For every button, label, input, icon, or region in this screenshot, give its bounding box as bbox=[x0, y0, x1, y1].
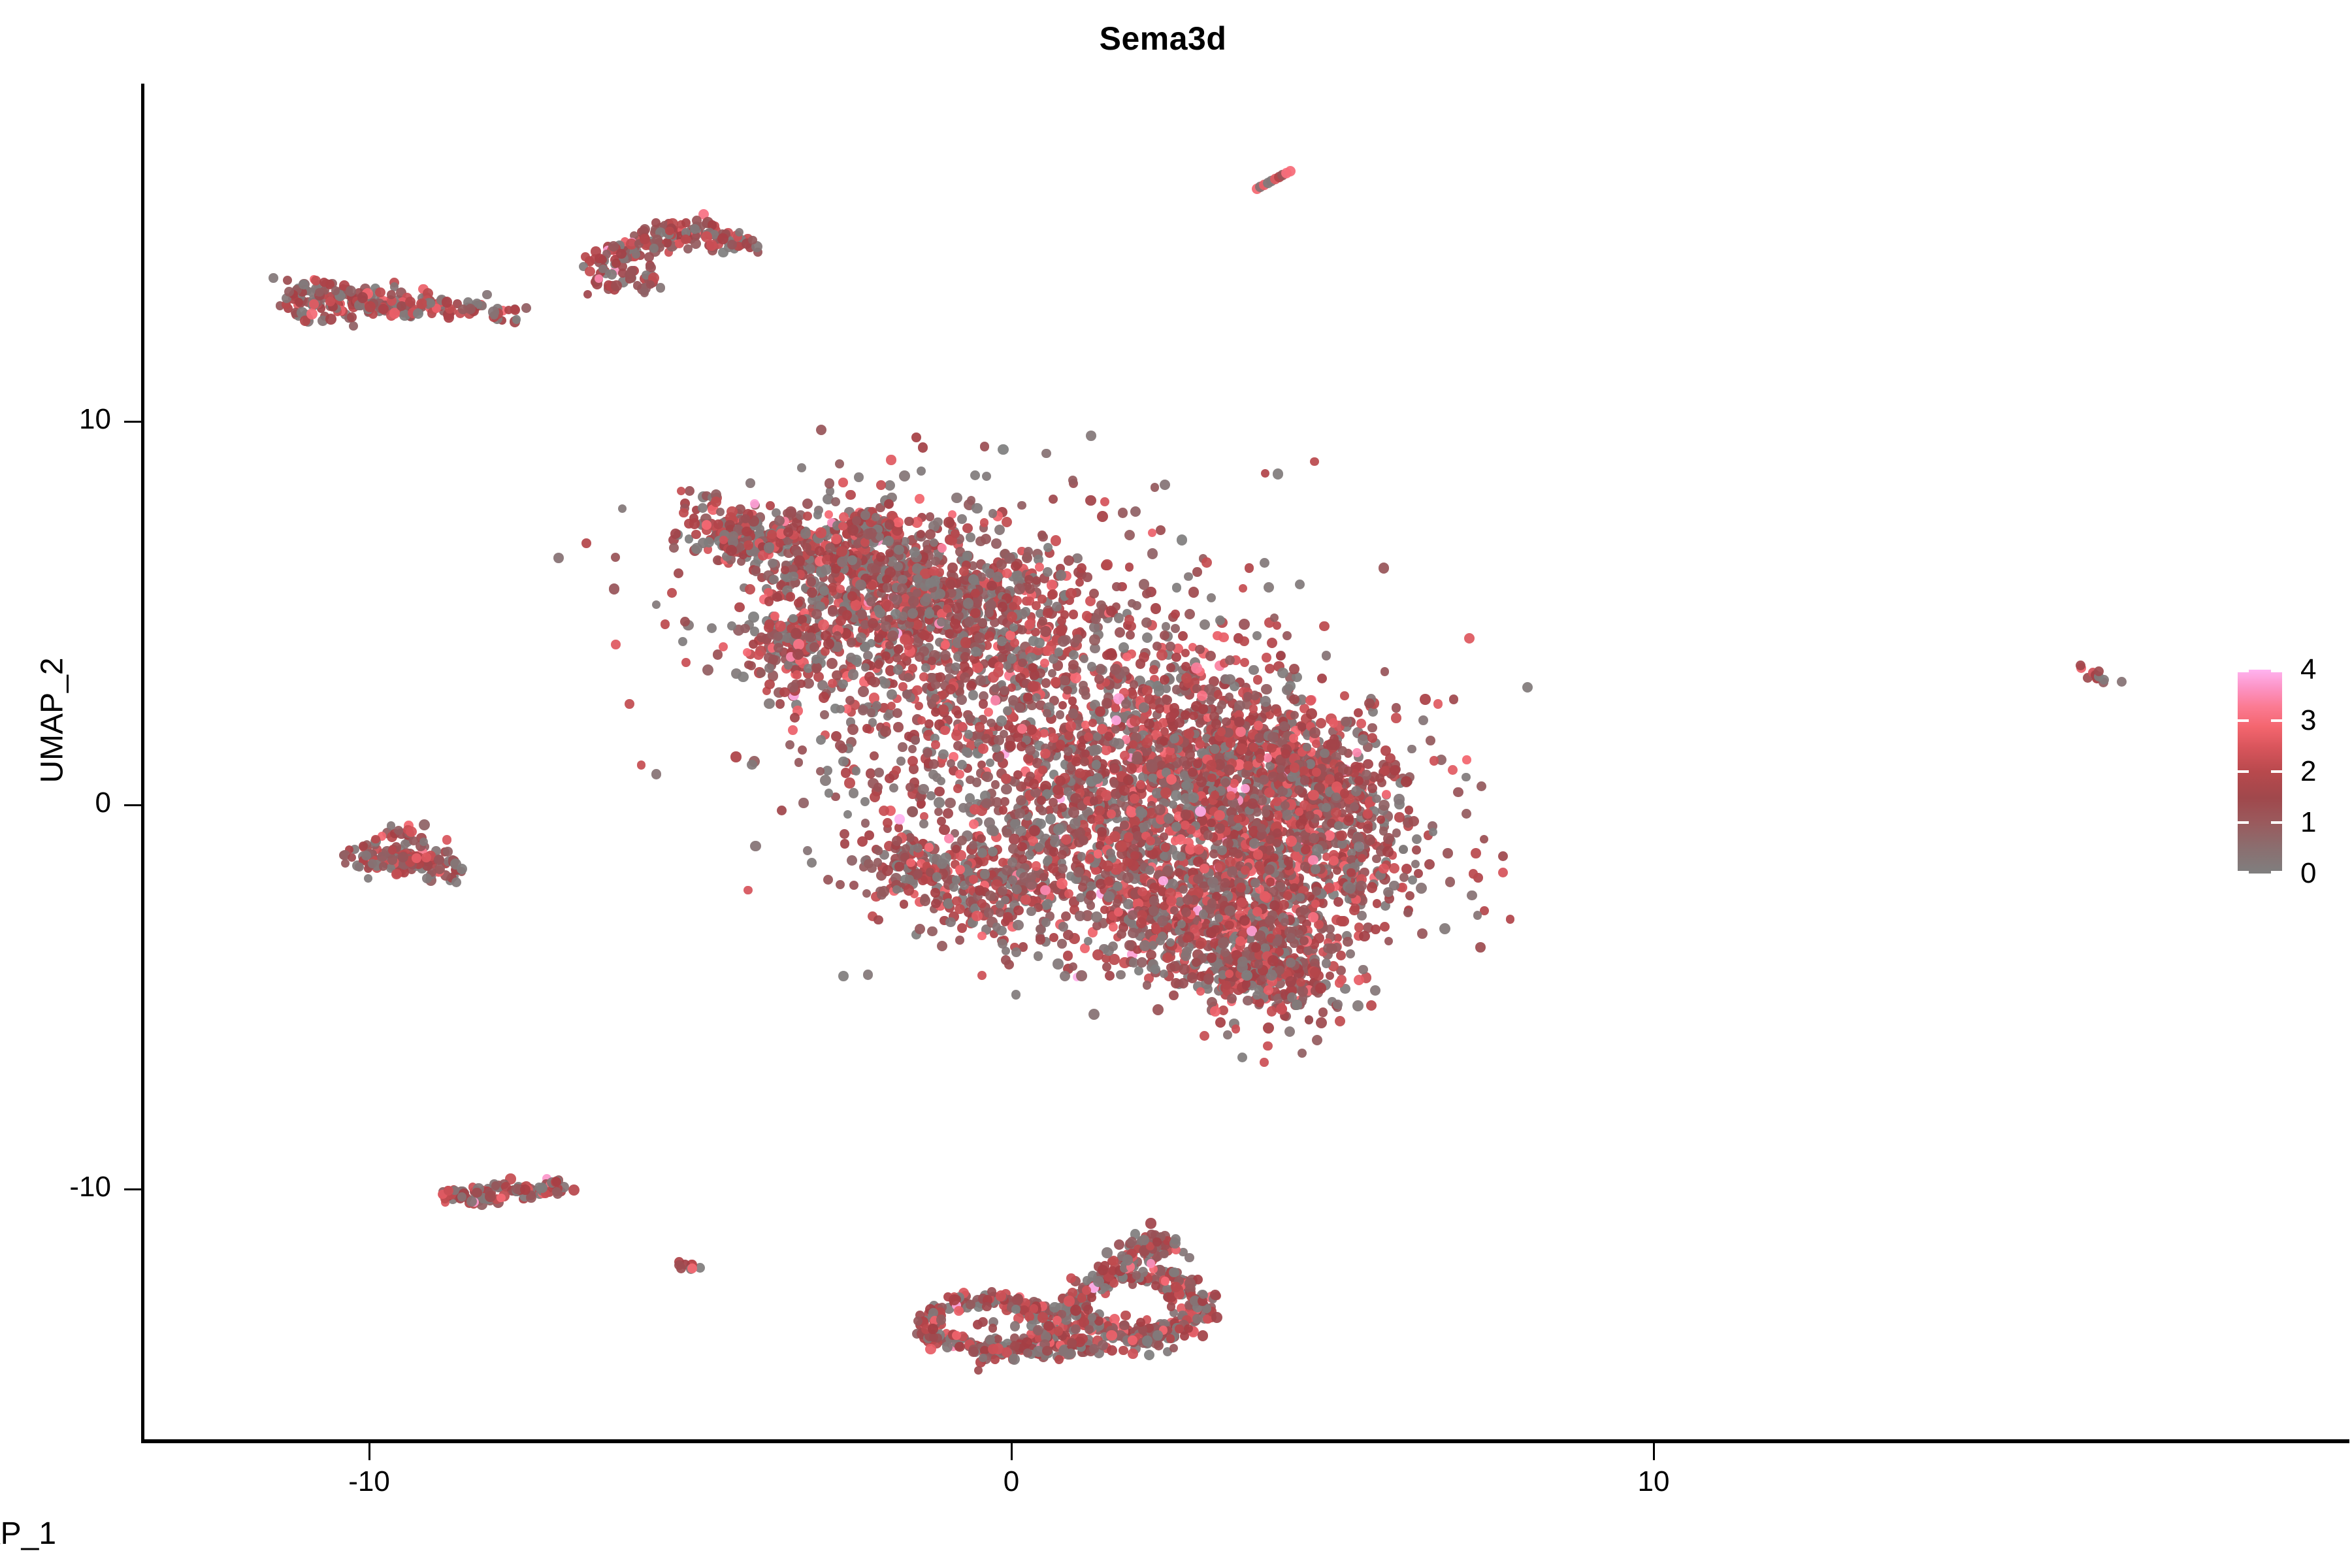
scatter-point bbox=[1266, 877, 1275, 887]
scatter-point bbox=[325, 297, 335, 306]
scatter-point bbox=[1230, 830, 1239, 838]
scatter-point bbox=[1259, 775, 1268, 784]
scatter-point bbox=[994, 662, 1004, 671]
scatter-point bbox=[857, 610, 867, 619]
scatter-point bbox=[1049, 733, 1058, 743]
scatter-point bbox=[1171, 653, 1181, 662]
scatter-point bbox=[1184, 728, 1194, 739]
scatter-point bbox=[1102, 962, 1111, 972]
scatter-point bbox=[1281, 801, 1289, 809]
scatter-point bbox=[1403, 908, 1413, 917]
scatter-point bbox=[1412, 834, 1422, 844]
scatter-point bbox=[1107, 650, 1117, 661]
scatter-point bbox=[1343, 937, 1353, 947]
scatter-point bbox=[823, 875, 833, 885]
scatter-point bbox=[1377, 815, 1385, 824]
scatter-point bbox=[894, 823, 904, 832]
scatter-point bbox=[1267, 638, 1277, 648]
scatter-point bbox=[998, 444, 1008, 455]
scatter-point bbox=[982, 472, 991, 481]
scatter-point bbox=[1351, 786, 1362, 796]
scatter-point bbox=[1162, 866, 1173, 876]
scatter-point bbox=[1385, 753, 1396, 764]
scatter-point bbox=[1462, 755, 1471, 764]
scatter-point bbox=[1382, 790, 1391, 799]
scatter-point bbox=[1100, 497, 1109, 506]
scatter-point bbox=[1126, 630, 1135, 640]
scatter-point bbox=[1420, 694, 1431, 705]
scatter-point bbox=[1171, 822, 1181, 832]
scatter-point bbox=[1298, 723, 1306, 731]
scatter-point bbox=[1379, 864, 1388, 874]
scatter-point bbox=[1075, 578, 1085, 587]
scatter-point bbox=[1363, 824, 1373, 834]
scatter-point bbox=[745, 478, 755, 488]
scatter-point bbox=[1142, 685, 1152, 696]
scatter-point bbox=[1445, 877, 1456, 887]
scatter-point bbox=[1148, 529, 1157, 538]
scatter-point bbox=[1270, 613, 1279, 622]
scatter-point bbox=[1172, 583, 1182, 593]
scatter-point bbox=[945, 798, 956, 809]
scatter-point bbox=[1194, 844, 1204, 855]
scatter-point bbox=[651, 769, 662, 779]
scatter-point bbox=[1239, 636, 1249, 646]
scatter-point bbox=[745, 584, 755, 595]
scatter-point bbox=[1066, 588, 1076, 598]
scatter-point bbox=[970, 470, 980, 480]
scatter-point bbox=[427, 299, 435, 307]
scatter-point bbox=[968, 574, 979, 585]
scatter-point bbox=[911, 736, 920, 745]
scatter-point bbox=[1139, 579, 1149, 589]
scatter-point bbox=[1101, 745, 1111, 755]
scatter-point bbox=[863, 970, 874, 980]
scatter-point bbox=[1256, 754, 1264, 762]
scatter-point bbox=[727, 240, 737, 250]
scatter-point bbox=[1249, 704, 1258, 713]
scatter-point bbox=[1005, 630, 1015, 640]
scatter-point bbox=[1283, 891, 1292, 900]
scatter-point bbox=[1240, 658, 1249, 667]
scatter-point bbox=[870, 677, 880, 687]
scatter-point bbox=[990, 695, 1001, 706]
scatter-point bbox=[889, 783, 898, 792]
scatter-point bbox=[908, 596, 919, 607]
scatter-point bbox=[825, 510, 833, 519]
scatter-point bbox=[985, 608, 994, 617]
scatter-point bbox=[1424, 859, 1435, 870]
scatter-point bbox=[947, 759, 955, 768]
scatter-point bbox=[854, 472, 863, 482]
scatter-point bbox=[953, 784, 962, 793]
scatter-point bbox=[738, 672, 749, 683]
scatter-point bbox=[365, 301, 376, 312]
scatter-point bbox=[893, 722, 903, 732]
scatter-point bbox=[1040, 626, 1051, 637]
scatter-point bbox=[1405, 891, 1414, 900]
scatter-point bbox=[1038, 807, 1047, 815]
scatter-point bbox=[1418, 715, 1428, 725]
scatter-point bbox=[1300, 776, 1310, 785]
scatter-point bbox=[1051, 677, 1060, 687]
scatter-point bbox=[980, 518, 988, 527]
scatter-point bbox=[951, 730, 962, 741]
scatter-point bbox=[734, 602, 744, 612]
scatter-point bbox=[633, 281, 642, 290]
scatter-point bbox=[1115, 627, 1125, 638]
scatter-point bbox=[1477, 781, 1486, 791]
scatter-point bbox=[904, 673, 913, 682]
scatter-point bbox=[803, 512, 812, 521]
scatter-point bbox=[798, 745, 807, 755]
scatter-point bbox=[994, 753, 1004, 762]
scatter-point bbox=[1289, 694, 1299, 704]
scatter-point bbox=[583, 290, 592, 299]
scatter-point bbox=[1254, 861, 1264, 870]
scatter-point bbox=[669, 543, 679, 553]
scatter-point bbox=[994, 525, 1005, 535]
scatter-point bbox=[1265, 664, 1275, 674]
scatter-point bbox=[346, 286, 356, 296]
scatter-point bbox=[845, 696, 855, 705]
scatter-point bbox=[785, 506, 796, 517]
scatter-point bbox=[1392, 703, 1401, 713]
scatter-point bbox=[870, 792, 881, 803]
umap-feature-plot: Sema3d -10010 -10010 UMAP_1 UMAP_2 43210 bbox=[0, 0, 2352, 1568]
scatter-point bbox=[1449, 694, 1458, 704]
scatter-point bbox=[789, 572, 798, 581]
scatter-point bbox=[838, 971, 849, 981]
scatter-point bbox=[607, 269, 617, 279]
scatter-point bbox=[1058, 850, 1067, 859]
scatter-point bbox=[1498, 868, 1508, 877]
scatter-point bbox=[977, 971, 987, 980]
scatter-point bbox=[1336, 951, 1346, 960]
scatter-point bbox=[1058, 636, 1068, 646]
scatter-point bbox=[1475, 942, 1486, 953]
scatter-point bbox=[1305, 695, 1316, 706]
scatter-point bbox=[898, 742, 907, 752]
scatter-point bbox=[1068, 476, 1077, 485]
scatter-point bbox=[1311, 900, 1320, 908]
scatter-point bbox=[836, 880, 845, 889]
scatter-point bbox=[1200, 619, 1210, 630]
scatter-point bbox=[1407, 745, 1416, 753]
scatter-point bbox=[1038, 617, 1047, 626]
scatter-point bbox=[674, 568, 683, 578]
scatter-point bbox=[845, 490, 856, 500]
scatter-point bbox=[585, 267, 595, 276]
scatter-point bbox=[1352, 1000, 1364, 1011]
scatter-point bbox=[1152, 642, 1162, 651]
scatter-point bbox=[1301, 845, 1310, 855]
scatter-point bbox=[934, 787, 945, 797]
scatter-point bbox=[1306, 708, 1317, 719]
scatter-point bbox=[1352, 748, 1362, 757]
scatter-point bbox=[952, 602, 962, 613]
scatter-point bbox=[874, 634, 883, 643]
scatter-point bbox=[1473, 911, 1482, 920]
scatter-point bbox=[1166, 642, 1175, 651]
scatter-point bbox=[1282, 631, 1292, 641]
scatter-point bbox=[1354, 708, 1363, 717]
scatter-point bbox=[909, 547, 920, 557]
scatter-point bbox=[908, 664, 917, 673]
scatter-point bbox=[1279, 721, 1289, 731]
scatter-point bbox=[750, 841, 760, 851]
scatter-point bbox=[1429, 756, 1439, 765]
scatter-point bbox=[825, 543, 835, 553]
scatter-point bbox=[1134, 966, 1143, 975]
scatter-point bbox=[1184, 609, 1195, 619]
scatter-point bbox=[881, 621, 891, 632]
scatter-point bbox=[972, 503, 982, 514]
scatter-point bbox=[794, 555, 805, 566]
scatter-point bbox=[1274, 811, 1283, 820]
scatter-point bbox=[860, 797, 870, 806]
scatter-point bbox=[1282, 685, 1292, 695]
scatter-point bbox=[1119, 785, 1130, 796]
scatter-point bbox=[1056, 710, 1065, 719]
scatter-point bbox=[929, 759, 939, 769]
scatter-point bbox=[1084, 937, 1092, 945]
scatter-point bbox=[1048, 669, 1056, 678]
scatter-point bbox=[1191, 662, 1201, 673]
scatter-point bbox=[331, 286, 340, 295]
scatter-point bbox=[1043, 567, 1053, 577]
scatter-point bbox=[1239, 584, 1247, 593]
scatter-point bbox=[1188, 792, 1198, 802]
scatter-point bbox=[283, 276, 292, 285]
scatter-point bbox=[1401, 776, 1412, 787]
scatter-point bbox=[1264, 582, 1274, 593]
scatter-point bbox=[444, 312, 454, 323]
scatter-point bbox=[1279, 900, 1289, 910]
scatter-point bbox=[1295, 580, 1305, 589]
scatter-point bbox=[1178, 631, 1188, 641]
scatter-point bbox=[937, 777, 945, 785]
scatter-point bbox=[1341, 717, 1350, 727]
scatter-point bbox=[1226, 738, 1236, 748]
scatter-point bbox=[1049, 495, 1058, 504]
scatter-point bbox=[1149, 665, 1158, 674]
scatter-point bbox=[838, 679, 847, 689]
scatter-point bbox=[908, 745, 917, 753]
scatter-point bbox=[1080, 655, 1088, 663]
scatter-point bbox=[711, 497, 721, 507]
scatter-point bbox=[1075, 768, 1085, 779]
scatter-point bbox=[917, 466, 926, 476]
scatter-point bbox=[1217, 845, 1227, 855]
scatter-point bbox=[707, 623, 717, 633]
scatter-point bbox=[1011, 990, 1021, 999]
scatter-point bbox=[1079, 836, 1088, 845]
scatter-point bbox=[510, 305, 520, 315]
scatter-point bbox=[929, 576, 940, 587]
scatter-point bbox=[893, 664, 903, 674]
scatter-point bbox=[1160, 832, 1168, 841]
scatter-point bbox=[1085, 854, 1094, 863]
scatter-point bbox=[618, 504, 627, 513]
scatter-point bbox=[915, 652, 924, 662]
scatter-point bbox=[482, 290, 491, 299]
scatter-point bbox=[821, 564, 832, 576]
scatter-point bbox=[1023, 693, 1032, 702]
scatter-point bbox=[521, 303, 531, 313]
scatter-point bbox=[1041, 449, 1051, 459]
scatter-point bbox=[936, 672, 945, 682]
scatter-point bbox=[1040, 749, 1051, 759]
scatter-point bbox=[1195, 645, 1205, 655]
scatter-point bbox=[325, 314, 336, 325]
scatter-point bbox=[1260, 558, 1269, 568]
scatter-points-layer bbox=[142, 84, 2216, 1441]
scatter-point bbox=[387, 290, 396, 299]
scatter-point bbox=[889, 679, 898, 688]
scatter-point bbox=[1156, 525, 1166, 535]
scatter-point bbox=[1123, 899, 1134, 909]
scatter-point bbox=[1379, 826, 1388, 835]
scatter-point bbox=[1141, 617, 1152, 628]
scatter-point bbox=[608, 241, 619, 252]
scatter-point bbox=[1083, 572, 1092, 581]
scatter-point bbox=[933, 517, 942, 527]
scatter-point bbox=[797, 463, 806, 472]
scatter-point bbox=[1147, 548, 1158, 559]
scatter-point bbox=[978, 743, 988, 754]
scatter-point bbox=[816, 735, 826, 745]
scatter-point bbox=[874, 783, 883, 792]
scatter-point bbox=[1217, 700, 1226, 710]
scatter-point bbox=[798, 798, 808, 808]
scatter-point bbox=[874, 915, 883, 925]
scatter-point bbox=[800, 528, 811, 538]
scatter-point bbox=[1412, 845, 1421, 855]
scatter-point bbox=[1089, 745, 1100, 756]
scatter-point bbox=[996, 715, 1007, 726]
scatter-point bbox=[955, 770, 964, 779]
scatter-point bbox=[923, 748, 932, 757]
scatter-point bbox=[1053, 824, 1064, 834]
scatter-point bbox=[1203, 830, 1213, 840]
scatter-point bbox=[1324, 883, 1335, 893]
scatter-point bbox=[1120, 821, 1129, 830]
scatter-point bbox=[1195, 806, 1206, 817]
scatter-point bbox=[918, 442, 928, 452]
scatter-point bbox=[896, 757, 906, 766]
scatter-point bbox=[1125, 563, 1134, 572]
scatter-point bbox=[981, 534, 992, 545]
scatter-point bbox=[748, 236, 757, 244]
scatter-point bbox=[1109, 954, 1119, 964]
scatter-point bbox=[1273, 468, 1284, 480]
scatter-point bbox=[299, 280, 308, 289]
scatter-point bbox=[1310, 457, 1318, 466]
scatter-point bbox=[1011, 561, 1021, 571]
scatter-point bbox=[1192, 567, 1201, 576]
scatter-point bbox=[894, 814, 905, 825]
scatter-point bbox=[1015, 808, 1025, 819]
scatter-point bbox=[743, 648, 751, 657]
scatter-point bbox=[1416, 883, 1427, 894]
scatter-point bbox=[1154, 804, 1166, 815]
scatter-point bbox=[1215, 861, 1226, 872]
scatter-point bbox=[981, 798, 991, 808]
scatter-point bbox=[743, 886, 753, 895]
scatter-point bbox=[966, 681, 976, 691]
scatter-point bbox=[1198, 704, 1208, 714]
scatter-point bbox=[1405, 806, 1413, 814]
scatter-point bbox=[677, 487, 685, 495]
scatter-point bbox=[719, 642, 728, 651]
scatter-point bbox=[1213, 631, 1222, 641]
scatter-point bbox=[991, 538, 1002, 549]
scatter-point bbox=[1462, 809, 1471, 819]
scatter-point bbox=[1506, 915, 1514, 923]
scatter-point bbox=[1130, 851, 1139, 860]
scatter-point bbox=[980, 442, 990, 451]
scatter-point bbox=[1166, 712, 1175, 722]
scatter-point bbox=[730, 751, 741, 762]
scatter-point bbox=[867, 708, 875, 717]
scatter-point bbox=[1084, 732, 1093, 742]
scatter-point bbox=[835, 459, 844, 468]
scatter-point bbox=[907, 806, 918, 817]
scatter-point bbox=[1114, 613, 1124, 623]
scatter-point bbox=[1207, 593, 1216, 602]
scatter-point bbox=[1290, 711, 1299, 719]
scatter-point bbox=[1105, 971, 1115, 981]
scatter-point bbox=[1448, 765, 1458, 775]
scatter-point bbox=[966, 532, 975, 542]
scatter-point bbox=[1126, 763, 1137, 774]
scatter-point bbox=[838, 757, 848, 766]
scatter-point bbox=[977, 834, 986, 843]
scatter-point bbox=[1261, 469, 1270, 478]
scatter-point bbox=[1032, 601, 1041, 610]
scatter-point bbox=[954, 710, 962, 719]
scatter-point bbox=[886, 455, 896, 465]
scatter-point bbox=[1097, 511, 1108, 522]
scatter-point bbox=[849, 788, 859, 798]
scatter-point bbox=[1363, 759, 1373, 769]
scatter-point bbox=[1171, 624, 1181, 634]
scatter-point bbox=[656, 283, 666, 293]
scatter-point bbox=[815, 546, 825, 556]
scatter-point bbox=[1439, 923, 1450, 934]
scatter-point bbox=[347, 312, 357, 322]
scatter-point bbox=[1273, 828, 1282, 838]
scatter-point bbox=[874, 768, 884, 777]
scatter-point bbox=[887, 689, 897, 700]
scatter-point bbox=[1389, 863, 1399, 874]
scatter-point bbox=[1379, 563, 1390, 574]
scatter-point bbox=[1026, 653, 1036, 662]
scatter-point bbox=[665, 227, 674, 235]
scatter-point bbox=[900, 900, 908, 908]
scatter-point bbox=[931, 740, 940, 749]
scatter-point bbox=[894, 545, 904, 555]
scatter-point bbox=[1239, 619, 1250, 630]
scatter-point bbox=[1012, 570, 1023, 581]
scatter-point bbox=[679, 508, 689, 518]
scatter-point bbox=[1001, 955, 1011, 965]
scatter-point bbox=[1249, 665, 1258, 675]
scatter-point bbox=[1143, 981, 1152, 990]
scatter-point bbox=[1230, 779, 1239, 788]
scatter-point bbox=[1049, 847, 1059, 857]
